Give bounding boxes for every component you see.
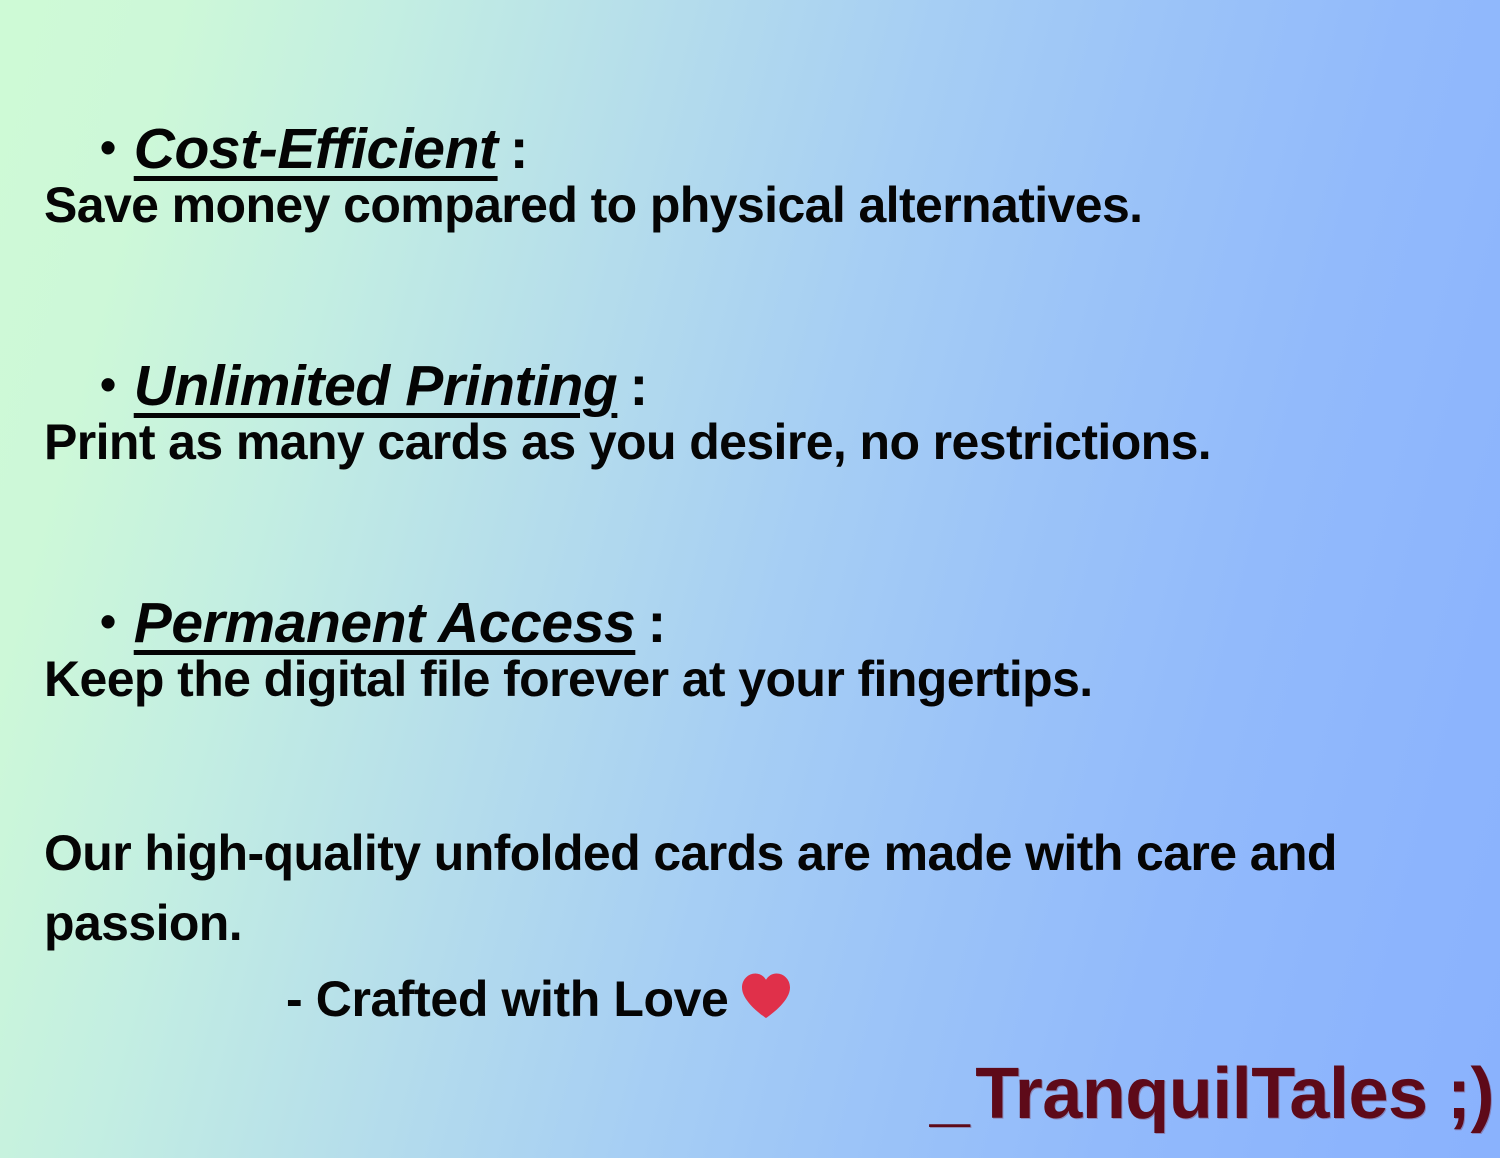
feature-description: Save money compared to physical alternat… (0, 179, 1500, 232)
feature-block-permanent-access: •Permanent Access: Keep the digital file… (0, 594, 1500, 706)
feature-heading: •Unlimited Printing: (0, 357, 1500, 416)
feature-block-cost-efficient: •Cost-Efficient: Save money compared to … (0, 120, 1500, 232)
brand-signature: _TranquilTales ;) (930, 1058, 1494, 1130)
bullet-icon: • (100, 124, 116, 170)
feature-description: Print as many cards as you desire, no re… (0, 416, 1500, 469)
feature-term: Unlimited Printing (134, 354, 618, 418)
signature-underscore: _ (930, 1058, 970, 1130)
bullet-icon: • (100, 598, 116, 644)
feature-colon: : (647, 591, 666, 655)
feature-colon: : (629, 354, 648, 418)
closing-paragraph: Our high-quality unfolded cards are made… (0, 818, 1420, 958)
feature-heading: •Cost-Efficient: (0, 120, 1500, 179)
feature-term: Permanent Access (134, 591, 636, 655)
promo-slide: •Cost-Efficient: Save money compared to … (0, 0, 1500, 1158)
feature-description: Keep the digital file forever at your fi… (0, 653, 1500, 706)
feature-heading: •Permanent Access: (0, 594, 1500, 653)
bullet-icon: • (100, 361, 116, 407)
feature-colon: : (510, 117, 529, 181)
feature-term: Cost-Efficient (134, 117, 498, 181)
feature-block-unlimited-printing: •Unlimited Printing: Print as many cards… (0, 357, 1500, 469)
crafted-text: - Crafted with Love (286, 971, 728, 1027)
crafted-with-love-line: - Crafted with Love (0, 972, 1500, 1030)
heart-icon (740, 972, 792, 1030)
signature-handle: TranquilTales ;) (975, 1054, 1494, 1134)
